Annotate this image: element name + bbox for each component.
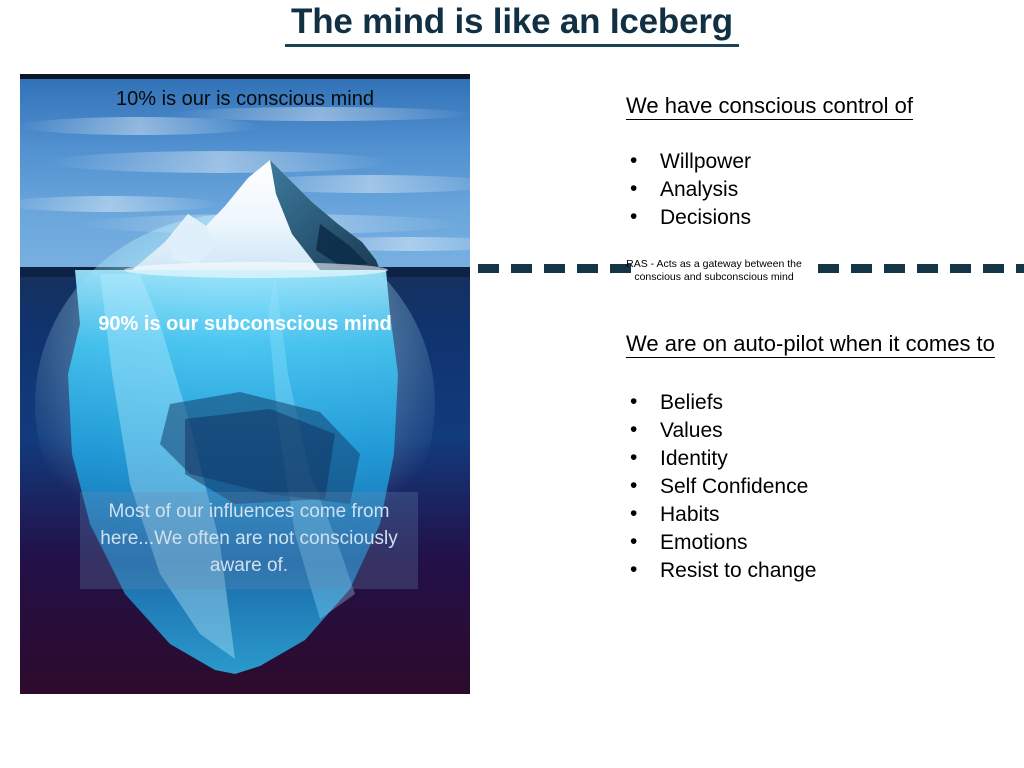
ice-waterline-foam [124,262,388,278]
list-item: Willpower [626,148,751,176]
dash-segment [851,264,872,273]
dash-segment [950,264,971,273]
iceberg-illustration [20,74,470,694]
ras-label-line2: conscious and subconscious mind [618,271,810,284]
dash-segment [511,264,532,273]
heading-auto-pilot-text: We are on auto-pilot when it comes to [626,331,995,358]
caption-influences-panel: Most of our influences come from here...… [80,492,418,589]
dash-run-right [818,264,1024,273]
list-item: Resist to change [626,557,816,585]
list-item: Self Confidence [626,473,816,501]
dash-segment [818,264,839,273]
heading-conscious-control-text: We have conscious control of [626,93,913,120]
ras-label-line1: RAS - Acts as a gateway between the [618,258,810,271]
page-title-text: The mind is like an Iceberg [285,2,739,47]
list-auto-pilot: Beliefs Values Identity Self Confidence … [626,389,816,585]
list-item: Decisions [626,204,751,232]
list-item: Emotions [626,529,816,557]
dash-segment [884,264,905,273]
dash-segment [917,264,938,273]
list-item: Analysis [626,176,751,204]
ras-gateway-label: RAS - Acts as a gateway between the cons… [618,258,810,284]
heading-auto-pilot: We are on auto-pilot when it comes to [626,331,995,357]
list-item: Beliefs [626,389,816,417]
dash-segment [577,264,598,273]
dash-segment [478,264,499,273]
dash-run-left [478,264,631,273]
heading-conscious-control: We have conscious control of [626,93,913,119]
list-item: Habits [626,501,816,529]
iceberg-image: 10% is our is conscious mind 90% is our … [20,74,470,694]
list-item: Values [626,417,816,445]
list-item: Identity [626,445,816,473]
list-conscious-control: Willpower Analysis Decisions [626,148,751,232]
dash-segment [1016,264,1024,273]
dash-segment [544,264,565,273]
page-title: The mind is like an Iceberg [0,2,1024,47]
dash-segment [983,264,1004,273]
photo-top-edge [20,74,470,79]
